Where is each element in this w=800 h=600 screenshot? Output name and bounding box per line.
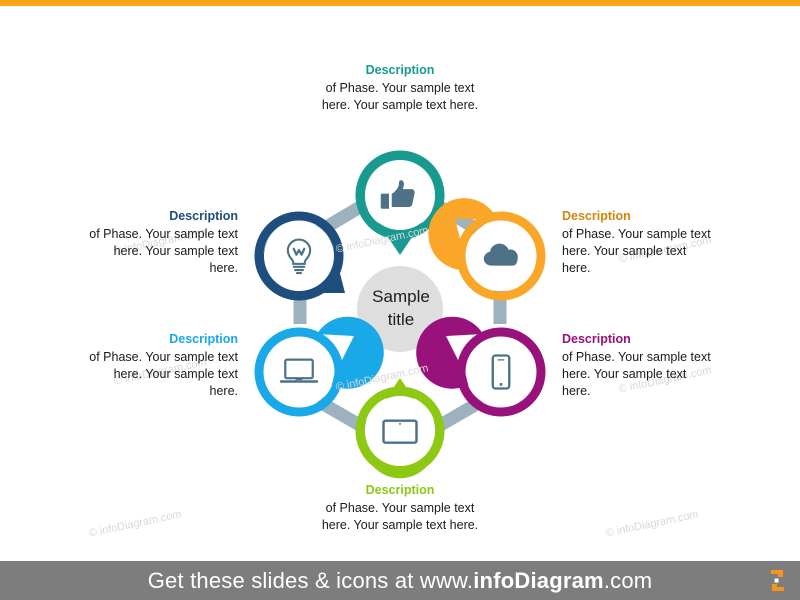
infodiagram-logo-icon <box>762 568 788 593</box>
phase-description-body: of Phase. Your sample text here. Your sa… <box>317 80 483 114</box>
phase-description-body: of Phase. Your sample text here. Your sa… <box>562 226 717 277</box>
phase-marker-inner <box>365 396 435 466</box>
footer-text-prefix: Get these slides & icons at www. <box>148 568 474 593</box>
phase-description-body: of Phase. Your sample text here. Your sa… <box>83 349 238 400</box>
phase-description-title: Description <box>317 62 483 79</box>
phase-description-top-right: Description of Phase. Your sample text h… <box>562 208 717 277</box>
phase-marker-inner <box>466 337 536 407</box>
phase-description-title: Description <box>83 331 238 348</box>
phase-description-body: of Phase. Your sample text here. Your sa… <box>83 226 238 277</box>
phase-description-body: of Phase. Your sample text here. Your sa… <box>317 500 483 534</box>
phase-description-bottom-right: Description of Phase. Your sample text h… <box>562 331 717 400</box>
phase-description-top-left: Description of Phase. Your sample text h… <box>83 208 238 277</box>
footer-banner: Get these slides & icons at www.infoDiag… <box>0 561 800 600</box>
phase-marker-bottom-right[interactable] <box>416 317 541 412</box>
phase-description-top: Description of Phase. Your sample text h… <box>317 62 483 114</box>
phase-marker-bottom[interactable] <box>360 378 440 478</box>
phase-description-bottom-left: Description of Phase. Your sample text h… <box>83 331 238 400</box>
phase-marker-top-right[interactable] <box>428 198 541 296</box>
footer-promo-text: Get these slides & icons at www.infoDiag… <box>148 568 653 594</box>
phase-marker-inner <box>264 221 334 291</box>
phase-description-title: Description <box>562 331 717 348</box>
phase-description-title: Description <box>562 208 717 225</box>
footer-text-suffix: .com <box>604 568 652 593</box>
diagram-stage: Sample title © infoDiagram.com © infoDia… <box>0 6 800 555</box>
phase-marker-bottom-left[interactable] <box>259 317 384 412</box>
phase-description-body: of Phase. Your sample text here. Your sa… <box>562 349 717 400</box>
phase-marker-top-left[interactable] <box>259 216 345 296</box>
phase-description-title: Description <box>83 208 238 225</box>
phase-marker-inner <box>264 337 334 407</box>
footer-brand: infoDiagram <box>473 568 604 593</box>
phase-description-title: Description <box>317 482 483 499</box>
phase-description-bottom: Description of Phase. Your sample text h… <box>317 482 483 534</box>
